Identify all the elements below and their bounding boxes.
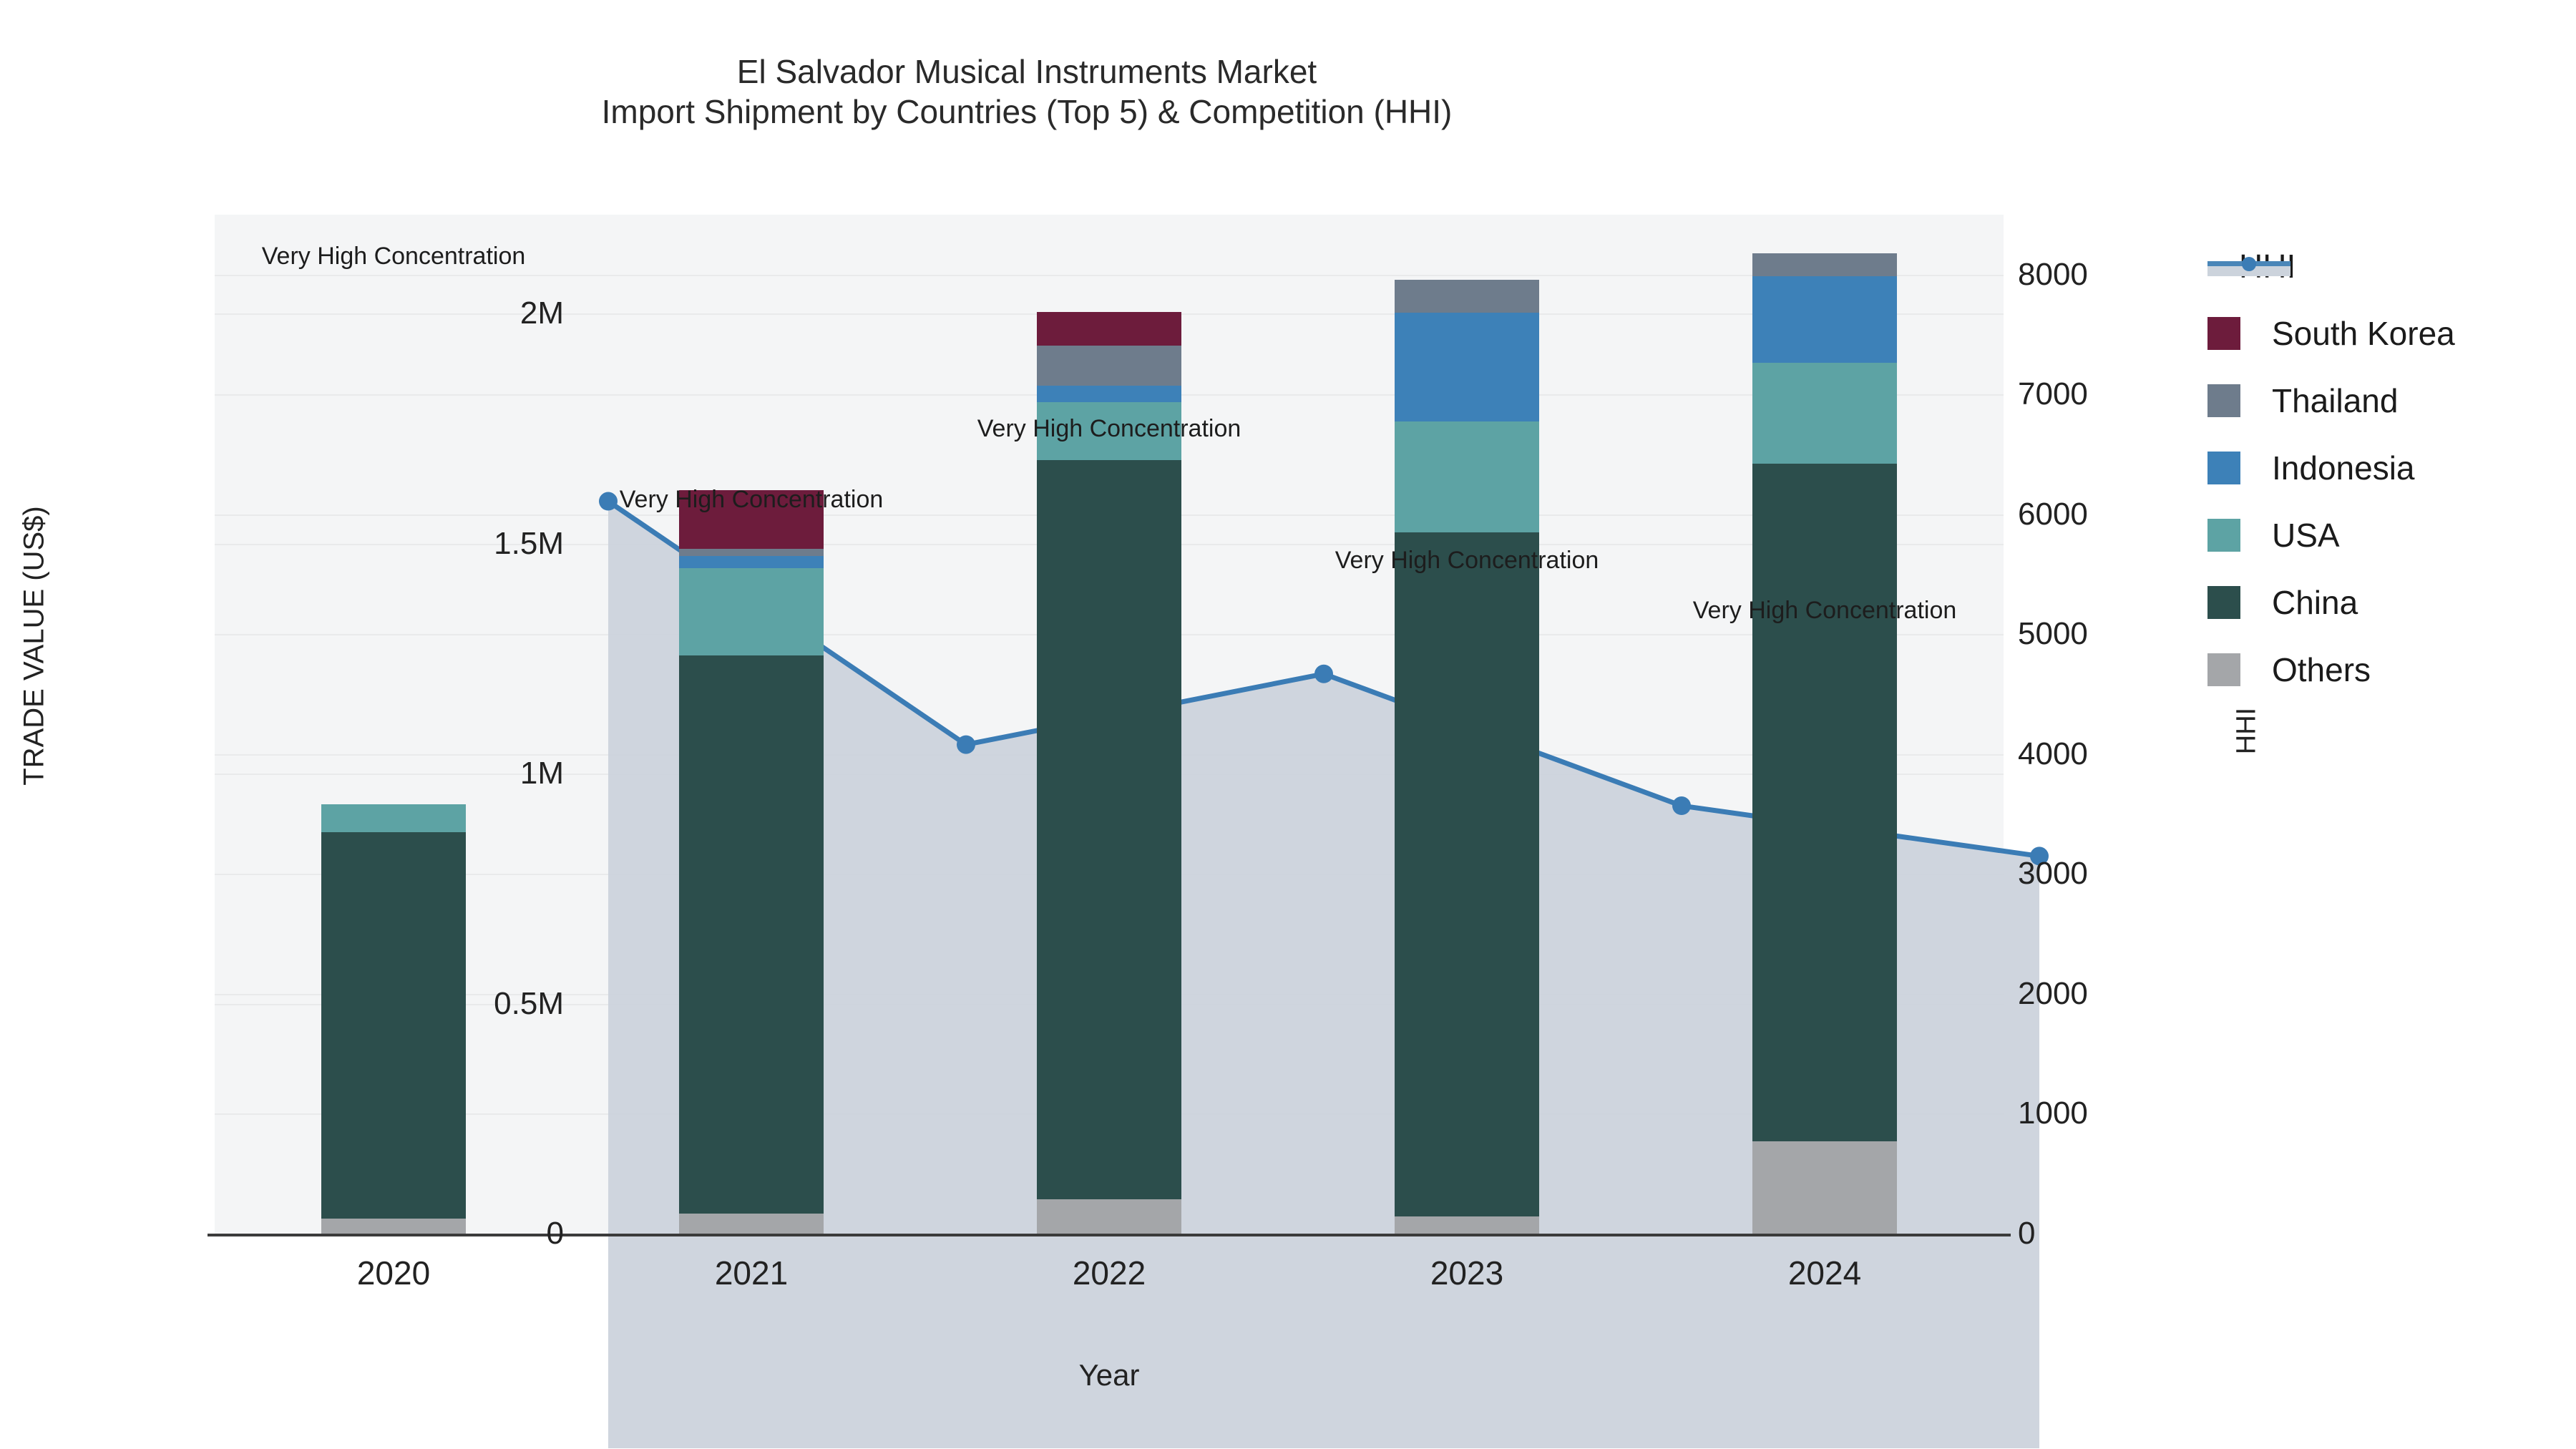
legend-item-label: South Korea bbox=[2272, 314, 2455, 353]
chart-title: El Salvador Musical Instruments Market I… bbox=[0, 52, 2054, 132]
legend-item-south-korea[interactable]: South Korea bbox=[2207, 300, 2565, 367]
bar-segment-china[interactable] bbox=[679, 655, 824, 1214]
chart-figure: El Salvador Musical Instruments Market I… bbox=[0, 0, 2576, 1449]
hhi-annotation: Very High Concentration bbox=[1693, 597, 1957, 625]
bar-segment-china[interactable] bbox=[1037, 460, 1181, 1200]
x-axis-tick-label: 2023 bbox=[1430, 1254, 1503, 1292]
legend-item-label: USA bbox=[2272, 516, 2340, 555]
x-axis-tick-label: 2024 bbox=[1788, 1254, 1861, 1292]
bar-group[interactable] bbox=[679, 215, 824, 1234]
legend-item-china[interactable]: China bbox=[2207, 569, 2565, 636]
y-axis-tick-label: 0.5M bbox=[378, 986, 564, 1022]
bar-segment-others[interactable] bbox=[1752, 1141, 1897, 1234]
x-axis-tick-label: 2022 bbox=[1073, 1254, 1146, 1292]
bar-segment-thailand[interactable] bbox=[1395, 280, 1539, 313]
legend-item-thailand[interactable]: Thailand bbox=[2207, 367, 2565, 434]
bar-segment-usa[interactable] bbox=[679, 568, 824, 655]
hhi-marker bbox=[1672, 796, 1691, 815]
bar-segment-thailand[interactable] bbox=[1752, 253, 1897, 276]
legend-swatch-icon bbox=[2207, 519, 2240, 552]
bar-group[interactable] bbox=[1037, 215, 1181, 1234]
bar-segment-usa[interactable] bbox=[321, 804, 466, 832]
x-axis-tick-label: 2020 bbox=[357, 1254, 430, 1292]
bar-segment-china[interactable] bbox=[1395, 532, 1539, 1216]
secondary-y-axis-tick-label: 3000 bbox=[2018, 856, 2088, 892]
bar-segment-usa[interactable] bbox=[1752, 363, 1897, 464]
chart-title-line-2: Import Shipment by Countries (Top 5) & C… bbox=[0, 92, 2054, 132]
legend-swatch-icon bbox=[2207, 653, 2240, 686]
legend-item-usa[interactable]: USA bbox=[2207, 502, 2565, 569]
legend-item-indonesia[interactable]: Indonesia bbox=[2207, 434, 2565, 502]
hhi-annotation: Very High Concentration bbox=[262, 243, 526, 270]
bar-segment-china[interactable] bbox=[1752, 464, 1897, 1142]
y-axis-label: TRADE VALUE (US$) bbox=[19, 424, 51, 868]
secondary-y-axis-tick-label: 8000 bbox=[2018, 257, 2088, 293]
bar-group[interactable] bbox=[1752, 215, 1897, 1234]
legend-item-label: China bbox=[2272, 583, 2358, 622]
legend-swatch-icon bbox=[2207, 384, 2240, 417]
secondary-y-axis-tick-label: 0 bbox=[2018, 1216, 2035, 1252]
hhi-marker bbox=[599, 492, 618, 511]
legend-item-hhi[interactable]: HHI bbox=[2207, 233, 2565, 300]
bar-segment-others[interactable] bbox=[1395, 1216, 1539, 1234]
secondary-y-axis-tick-label: 2000 bbox=[2018, 976, 2088, 1012]
bar-segment-indonesia[interactable] bbox=[679, 556, 824, 568]
legend-swatch-icon bbox=[2207, 452, 2240, 484]
bar-segment-indonesia[interactable] bbox=[1395, 313, 1539, 421]
secondary-y-axis-tick-label: 7000 bbox=[2018, 376, 2088, 412]
bar-group[interactable] bbox=[1395, 215, 1539, 1234]
hhi-annotation: Very High Concentration bbox=[620, 486, 884, 514]
secondary-y-axis-tick-label: 5000 bbox=[2018, 616, 2088, 652]
bar-segment-indonesia[interactable] bbox=[1037, 386, 1181, 402]
legend-item-label: Others bbox=[2272, 650, 2371, 689]
x-axis-tick-label: 2021 bbox=[715, 1254, 788, 1292]
y-axis-tick-label: 1.5M bbox=[378, 526, 564, 562]
bar-segment-others[interactable] bbox=[1037, 1199, 1181, 1234]
hhi-annotation: Very High Concentration bbox=[977, 415, 1241, 443]
x-axis-label: Year bbox=[215, 1358, 2004, 1392]
legend-swatch-icon bbox=[2207, 586, 2240, 619]
bar-segment-south-korea[interactable] bbox=[1037, 312, 1181, 345]
hhi-line-icon bbox=[2207, 250, 2290, 283]
bar-segment-thailand[interactable] bbox=[1037, 346, 1181, 386]
secondary-y-axis-tick-label: 1000 bbox=[2018, 1096, 2088, 1131]
legend-item-others[interactable]: Others bbox=[2207, 636, 2565, 703]
bar-segment-thailand[interactable] bbox=[679, 549, 824, 556]
y-axis-tick-label: 0 bbox=[378, 1216, 564, 1252]
chart-legend: HHISouth KoreaThailandIndonesiaUSAChinaO… bbox=[2207, 233, 2565, 703]
bar-segment-china[interactable] bbox=[321, 832, 466, 1218]
bar-group[interactable] bbox=[321, 215, 466, 1234]
legend-swatch-icon bbox=[2207, 317, 2240, 350]
bar-segment-others[interactable] bbox=[679, 1214, 824, 1234]
plot-area bbox=[215, 215, 2004, 1234]
secondary-y-axis-tick-label: 4000 bbox=[2018, 736, 2088, 772]
hhi-marker bbox=[1314, 665, 1333, 683]
y-axis-tick-label: 1M bbox=[378, 756, 564, 791]
hhi-annotation: Very High Concentration bbox=[1335, 547, 1599, 575]
secondary-y-axis-tick-label: 6000 bbox=[2018, 497, 2088, 532]
legend-item-label: Indonesia bbox=[2272, 449, 2415, 487]
chart-title-line-1: El Salvador Musical Instruments Market bbox=[0, 52, 2054, 92]
legend-item-label: Thailand bbox=[2272, 381, 2398, 420]
y-axis-tick-label: 2M bbox=[378, 296, 564, 331]
bar-segment-usa[interactable] bbox=[1395, 421, 1539, 532]
hhi-marker bbox=[957, 736, 975, 754]
bar-segment-indonesia[interactable] bbox=[1752, 276, 1897, 364]
